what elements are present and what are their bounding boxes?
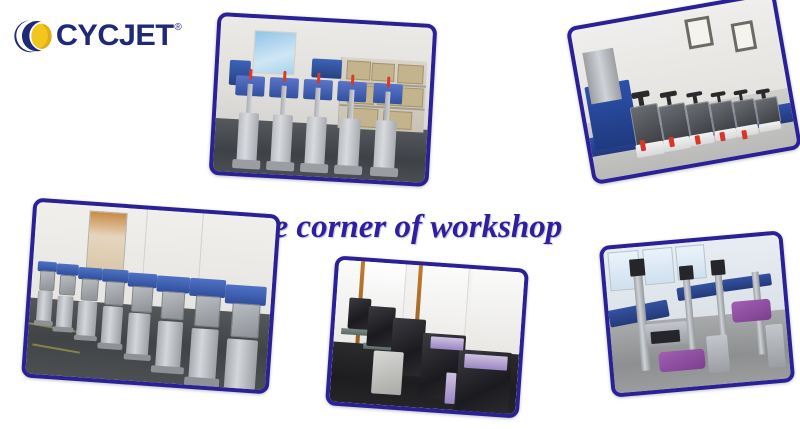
- wrapped-part: [731, 299, 771, 322]
- photo-workshop-laser-row-2: [21, 198, 281, 395]
- laser-machine: [218, 284, 267, 390]
- window: [642, 247, 675, 286]
- photo-workshop-inkjet-bench: [566, 0, 800, 185]
- laser-head: [710, 260, 725, 276]
- photo-content: [329, 260, 524, 415]
- photo-workshop-laser-row-1: [209, 12, 438, 187]
- photo-content: [603, 235, 791, 394]
- laser-machine: [368, 77, 405, 175]
- laser-machine: [298, 74, 335, 172]
- wrapped-part: [658, 348, 705, 372]
- laser-machine: [230, 70, 267, 168]
- laser-head: [679, 265, 694, 281]
- window: [252, 30, 297, 75]
- cycjet-logo-mark-icon: [10, 18, 56, 54]
- machine-frame: [706, 334, 730, 373]
- laser-head: [629, 258, 646, 277]
- unit-label: [430, 336, 464, 351]
- registered-trademark-icon: ®: [174, 23, 181, 33]
- doorway: [85, 211, 127, 274]
- wall-frame: [684, 16, 713, 50]
- photo-content: [213, 16, 433, 183]
- photo-content: [570, 0, 797, 181]
- paper-stack: [371, 350, 404, 395]
- photo-content: [25, 202, 276, 390]
- brand-logo: CYCJET ®: [10, 16, 200, 56]
- laser-machine: [332, 75, 369, 173]
- wall-frame: [731, 20, 758, 52]
- brand-name: CYCJET: [56, 21, 174, 51]
- photo-workshop-conveyor-line: [599, 230, 796, 397]
- page-title: the corner of workshop: [246, 207, 606, 247]
- photo-workshop-dark-units: [325, 255, 529, 418]
- brand-wordmark: CYCJET ®: [57, 21, 182, 51]
- marking-window: [651, 330, 680, 344]
- laser-machine: [264, 72, 301, 170]
- slide-canvas: CYCJET ® the corner of workshop: [0, 0, 800, 429]
